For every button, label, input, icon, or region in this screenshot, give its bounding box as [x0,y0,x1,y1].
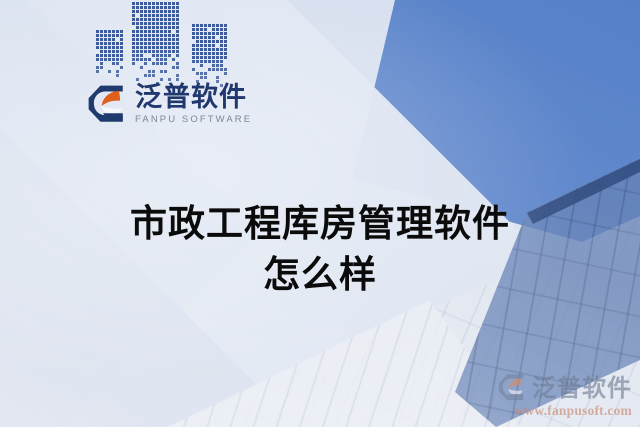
watermark: 泛普软件 www.fanpusoft.com [454,373,632,419]
watermark-brand-name: 泛普软件 [532,376,632,400]
fanpu-swoosh-icon [86,84,128,124]
watermark-logo-row: 泛普软件 [454,373,632,402]
brand-name-cn: 泛普软件 [135,84,252,111]
headline-line-1: 市政工程库房管理软件 [0,198,640,249]
headline: 市政工程库房管理软件 怎么样 [0,198,640,300]
watermark-url: www.fanpusoft.com [454,403,632,419]
headline-line-2: 怎么样 [0,249,640,300]
pixel-skyline-icon [96,2,246,90]
fanpu-swoosh-icon [497,373,527,402]
promo-banner: 泛普软件 FANPU SOFTWARE 市政工程库房管理软件 怎么样 泛普软件 … [0,0,640,427]
brand-logo: 泛普软件 FANPU SOFTWARE [86,84,252,125]
brand-name-en: FANPU SOFTWARE [135,115,252,125]
